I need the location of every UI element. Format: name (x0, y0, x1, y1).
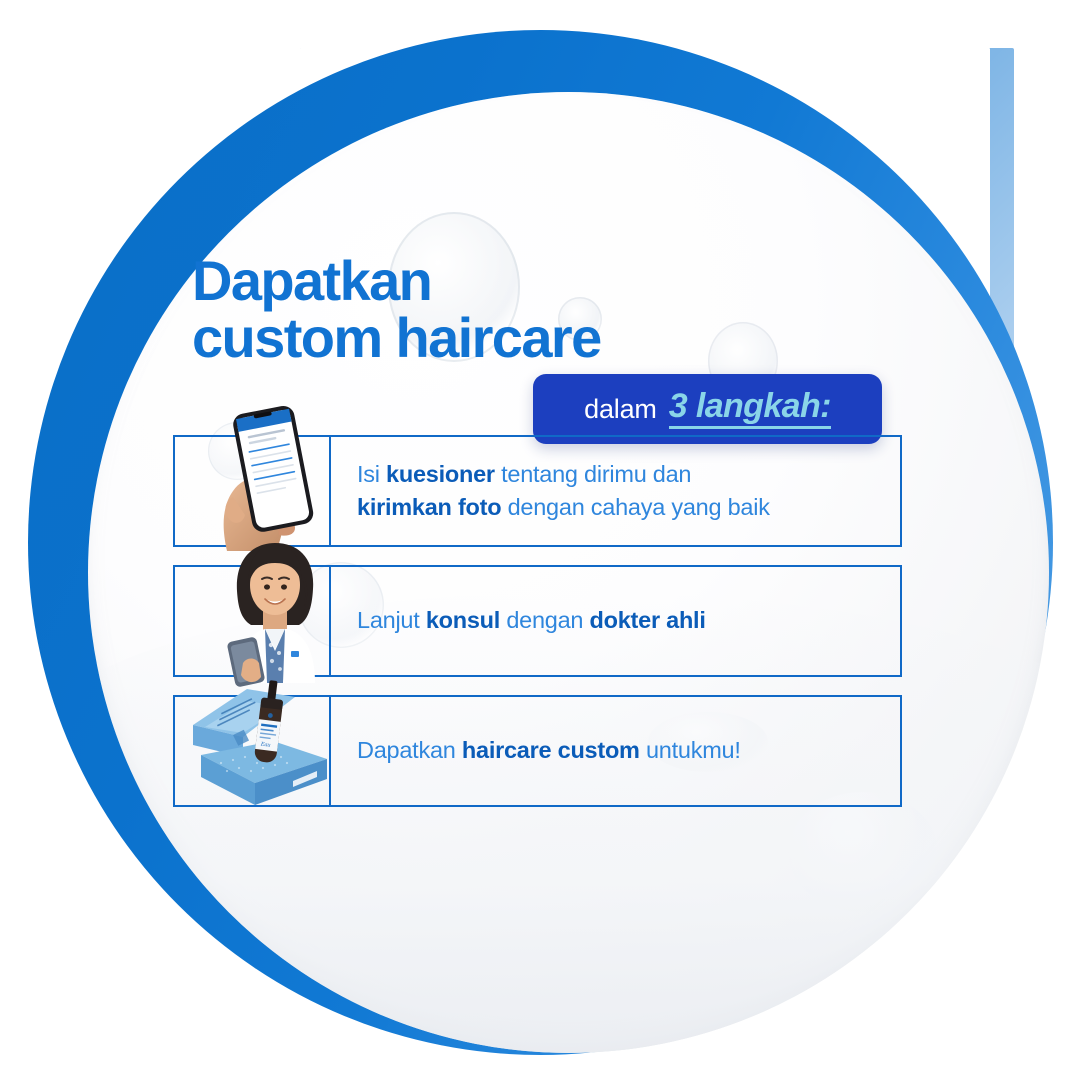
step-3-text: Dapatkan haircare custom untukmu! (357, 734, 741, 767)
step-1-text-cell: Isi kuesioner tentang dirimu dankirimkan… (329, 435, 902, 547)
list-item: Isi kuesioner tentang dirimu dankirimkan… (173, 435, 902, 547)
list-item: Lanjut konsul dengan dokter ahli (173, 565, 902, 677)
hand-holding-phone-questionnaire-icon (185, 413, 335, 553)
female-doctor-with-phone-icon (191, 537, 341, 683)
badge-emphasis-label: 3 langkah: (669, 389, 831, 430)
steps-badge: dalam 3 langkah: (533, 374, 882, 444)
step-2-text: Lanjut konsul dengan dokter ahli (357, 604, 706, 637)
promo-graphic: Dapatkan custom haircare dalam 3 langkah… (0, 0, 1080, 1080)
step-2-text-cell: Lanjut konsul dengan dokter ahli (329, 565, 902, 677)
product-box-with-serum-bottle-icon: Eau (177, 683, 337, 813)
list-item: Eau Dapatkan haircare custom untukmu! (173, 695, 902, 807)
step-3-media-cell: Eau (173, 695, 329, 807)
step-1-text: Isi kuesioner tentang dirimu dankirimkan… (357, 458, 770, 525)
step-2-media-cell (173, 565, 329, 677)
steps-list: Isi kuesioner tentang dirimu dankirimkan… (173, 435, 902, 825)
badge-prefix-label: dalam (584, 394, 657, 425)
step-3-text-cell: Dapatkan haircare custom untukmu! (329, 695, 902, 807)
step-1-media-cell (173, 435, 329, 547)
page-title: Dapatkan custom haircare (192, 252, 601, 366)
